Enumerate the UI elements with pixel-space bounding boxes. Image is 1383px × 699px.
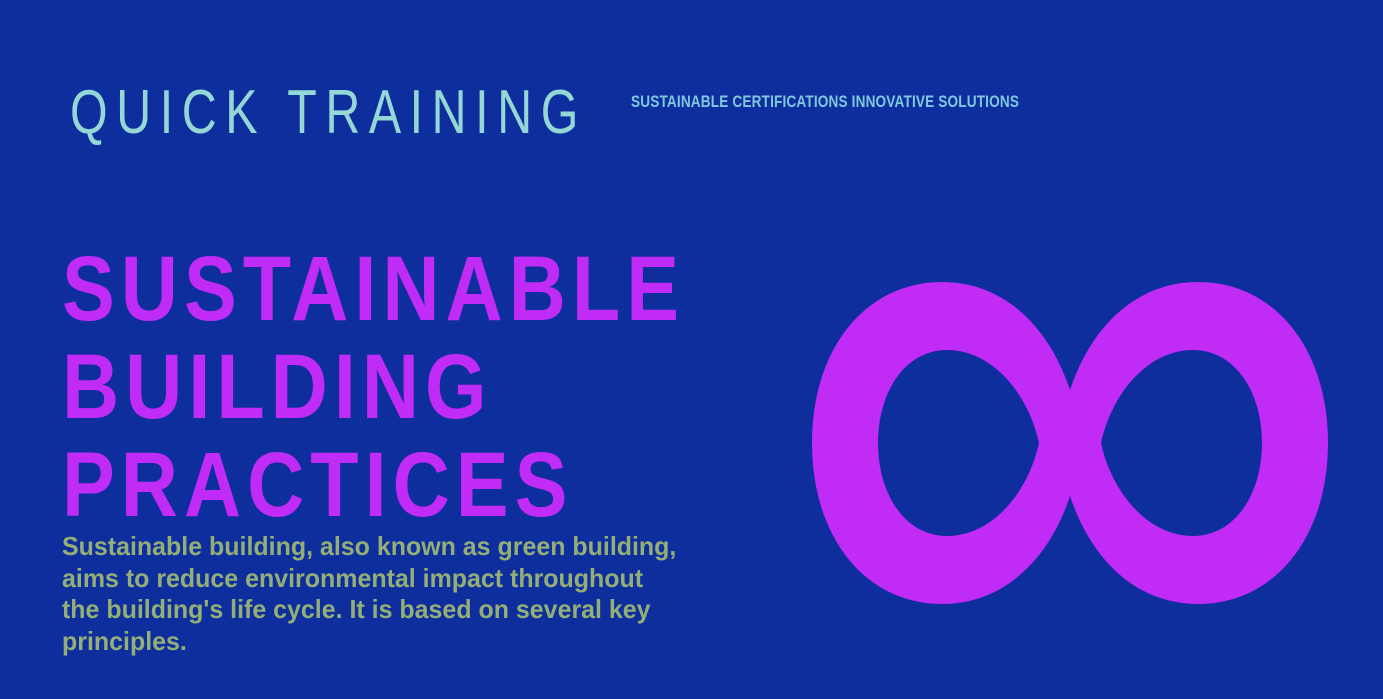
slide-canvas: QUICK TRAINING SUSTAINABLE CERTIFICATION… <box>0 0 1383 699</box>
headline-line-3: PRACTICES <box>62 436 716 534</box>
infinity-icon <box>806 282 1334 604</box>
headline-line-2: BUILDING <box>62 338 716 436</box>
kicker-quick-training: QUICK TRAINING <box>70 82 587 144</box>
headline-line-1: SUSTAINABLE <box>62 240 716 338</box>
page-title: SUSTAINABLE BUILDING PRACTICES <box>62 240 822 534</box>
tagline-certifications: SUSTAINABLE CERTIFICATIONS INNOVATIVE SO… <box>631 93 1019 110</box>
body-paragraph: Sustainable building, also known as gree… <box>62 531 676 657</box>
